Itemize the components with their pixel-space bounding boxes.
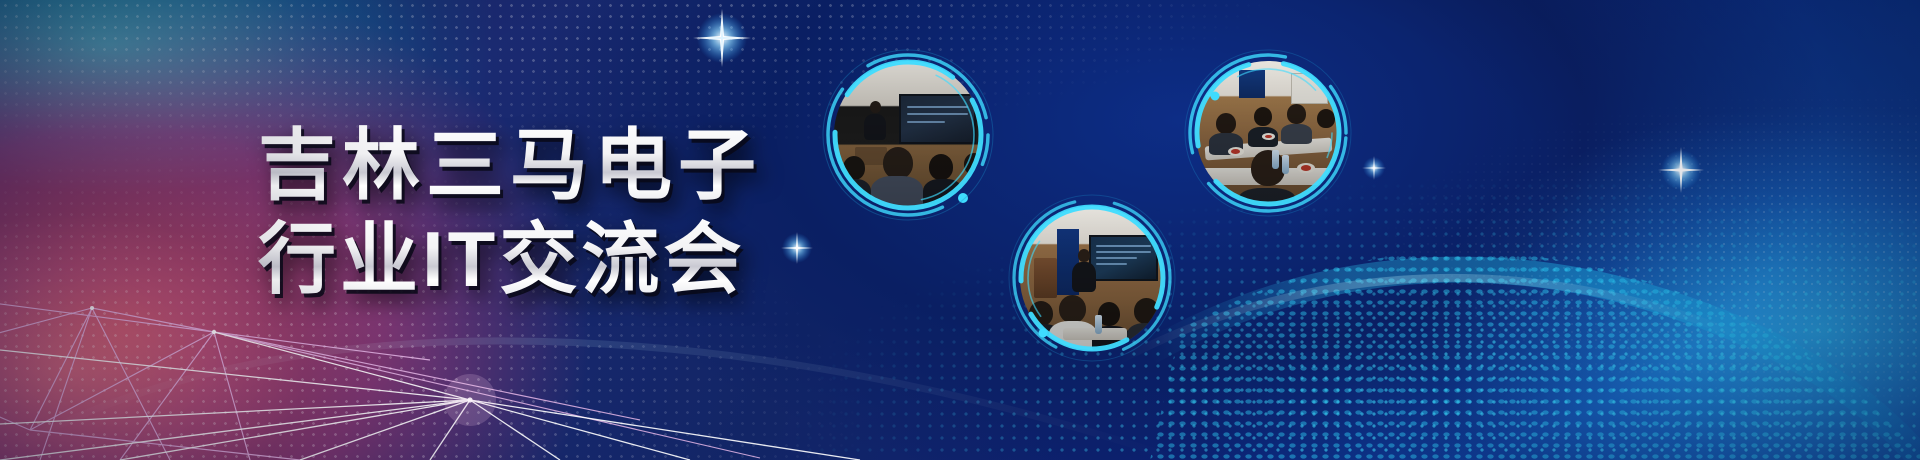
event-banner: 吉林三马电子 行业IT交流会	[0, 0, 1920, 460]
vignette-overlay	[0, 0, 1920, 460]
